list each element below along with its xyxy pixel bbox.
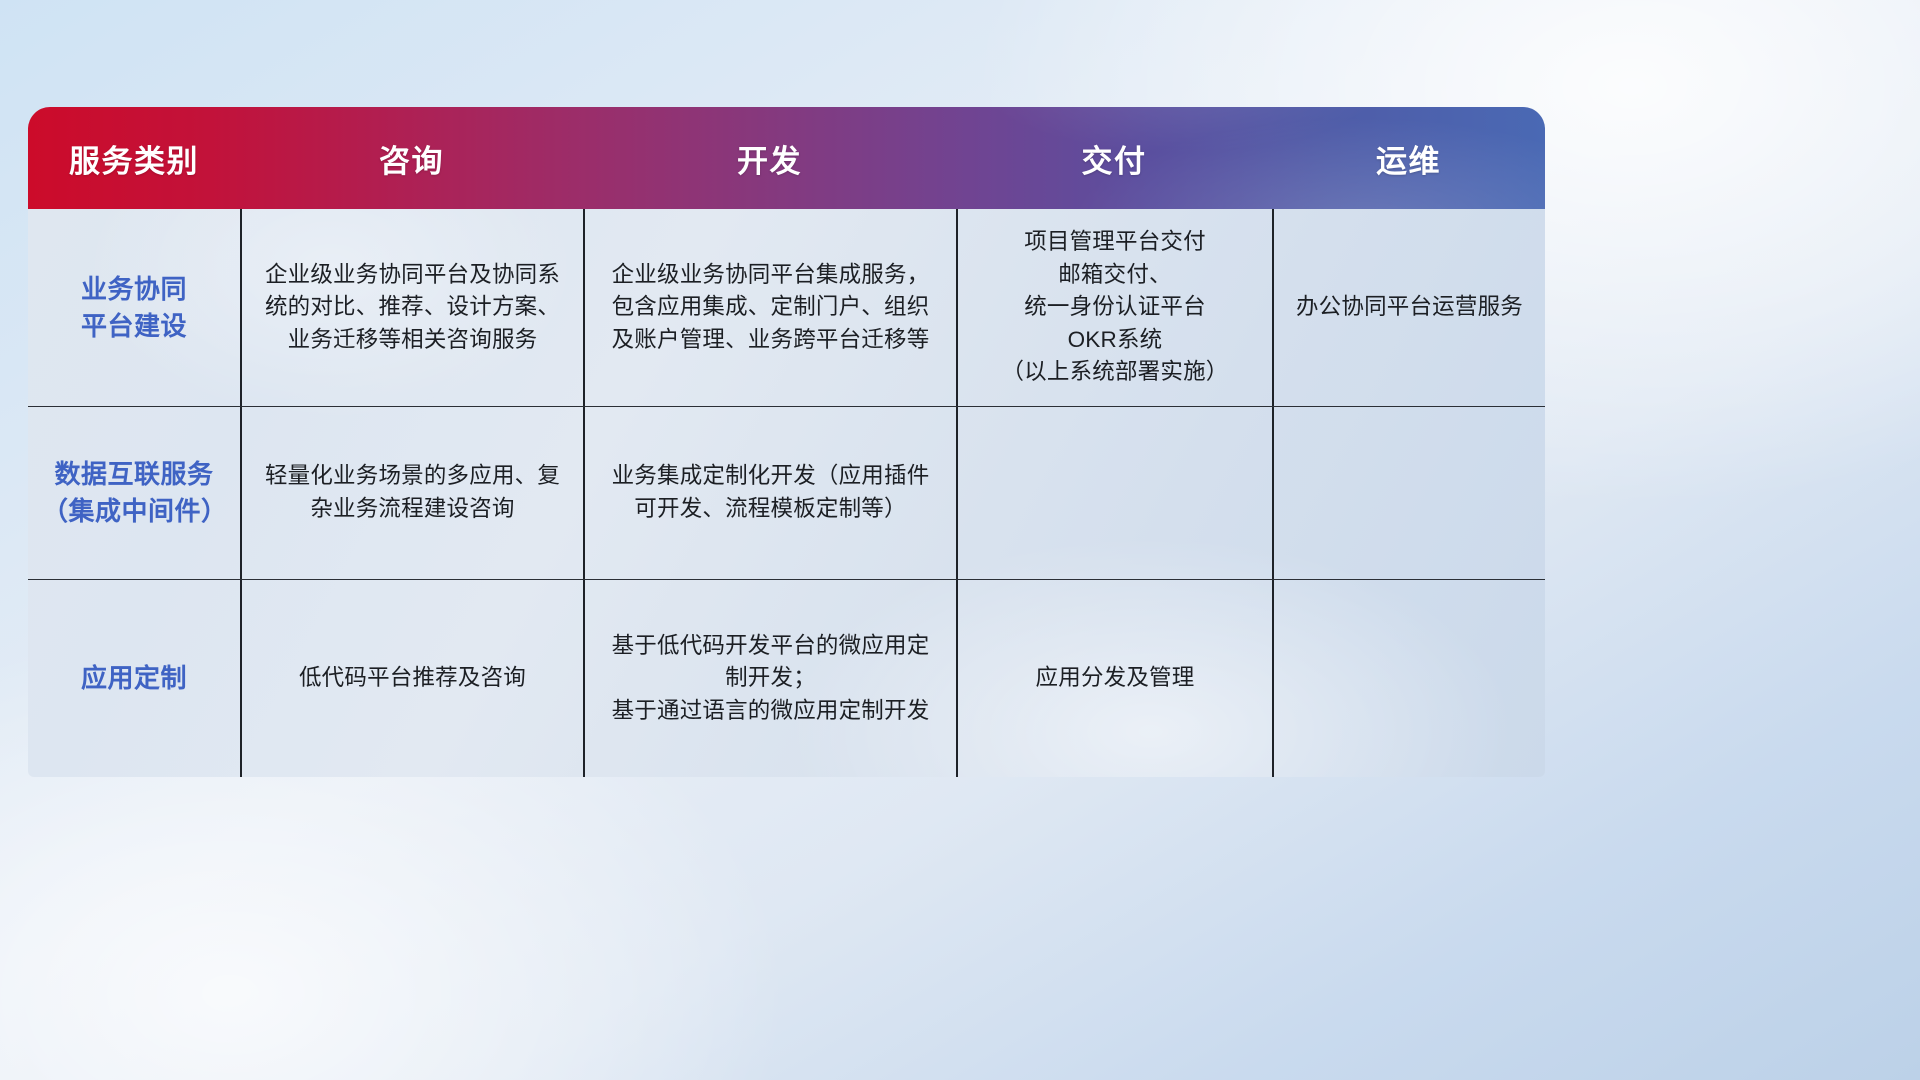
cell-delivery [956,407,1272,579]
cell-consulting: 轻量化业务场景的多应用、复 杂业务流程建设咨询 [240,407,583,579]
table-row: 数据互联服务 （集成中间件） 轻量化业务场景的多应用、复 杂业务流程建设咨询 业… [28,407,1545,580]
cell-text: 轻量化业务场景的多应用、复 杂业务流程建设咨询 [265,460,560,525]
cell-development: 业务集成定制化开发（应用插件 可开发、流程模板定制等） [583,407,956,579]
row-label-cell: 业务协同 平台建设 [28,209,240,406]
cell-text: 企业级业务协同平台集成服务， 包含应用集成、定制门户、组织 及账户管理、业务跨平… [612,259,930,357]
cell-text: 业务集成定制化开发（应用插件 可开发、流程模板定制等） [612,460,930,525]
cell-text: 办公协同平台运营服务 [1296,291,1523,324]
column-header-consulting: 咨询 [240,136,583,181]
service-matrix-table: 服务类别 咨询 开发 交付 运维 业务协同 平台建设 企业级业务协同平台及协同系… [28,107,1545,777]
cell-delivery: 项目管理平台交付 邮箱交付、 统一身份认证平台 OKR系统 （以上系统部署实施） [956,209,1272,406]
column-header-delivery: 交付 [956,136,1272,181]
cell-operations [1272,407,1545,579]
table-row: 业务协同 平台建设 企业级业务协同平台及协同系 统的对比、推荐、设计方案、 业务… [28,209,1545,407]
cell-development: 企业级业务协同平台集成服务， 包含应用集成、定制门户、组织 及账户管理、业务跨平… [583,209,956,406]
row-label-cell: 应用定制 [28,580,240,777]
row-label-cell: 数据互联服务 （集成中间件） [28,407,240,579]
table-body: 业务协同 平台建设 企业级业务协同平台及协同系 统的对比、推荐、设计方案、 业务… [28,209,1545,777]
table-row: 应用定制 低代码平台推荐及咨询 基于低代码开发平台的微应用定 制开发； 基于通过… [28,580,1545,777]
row-label-text: 应用定制 [81,660,187,697]
cell-text: 低代码平台推荐及咨询 [299,662,526,695]
cell-text: 基于低代码开发平台的微应用定 制开发； 基于通过语言的微应用定制开发 [612,630,930,728]
column-header-development: 开发 [583,136,956,181]
cell-operations [1272,580,1545,777]
cell-consulting: 企业级业务协同平台及协同系 统的对比、推荐、设计方案、 业务迁移等相关咨询服务 [240,209,583,406]
cell-text: 项目管理平台交付 邮箱交付、 统一身份认证平台 OKR系统 （以上系统部署实施） [1001,226,1228,389]
cell-consulting: 低代码平台推荐及咨询 [240,580,583,777]
row-label-text: 数据互联服务 （集成中间件） [42,456,226,530]
cell-operations: 办公协同平台运营服务 [1272,209,1545,406]
cell-delivery: 应用分发及管理 [956,580,1272,777]
column-header-category: 服务类别 [28,136,240,181]
column-header-operations: 运维 [1272,136,1545,181]
cell-text: 应用分发及管理 [1036,662,1195,695]
page-canvas: 服务类别 咨询 开发 交付 运维 业务协同 平台建设 企业级业务协同平台及协同系… [0,0,1920,1080]
row-label-text: 业务协同 平台建设 [81,271,187,345]
table-header-row: 服务类别 咨询 开发 交付 运维 [28,107,1545,209]
cell-development: 基于低代码开发平台的微应用定 制开发； 基于通过语言的微应用定制开发 [583,580,956,777]
cell-text: 企业级业务协同平台及协同系 统的对比、推荐、设计方案、 业务迁移等相关咨询服务 [265,259,560,357]
